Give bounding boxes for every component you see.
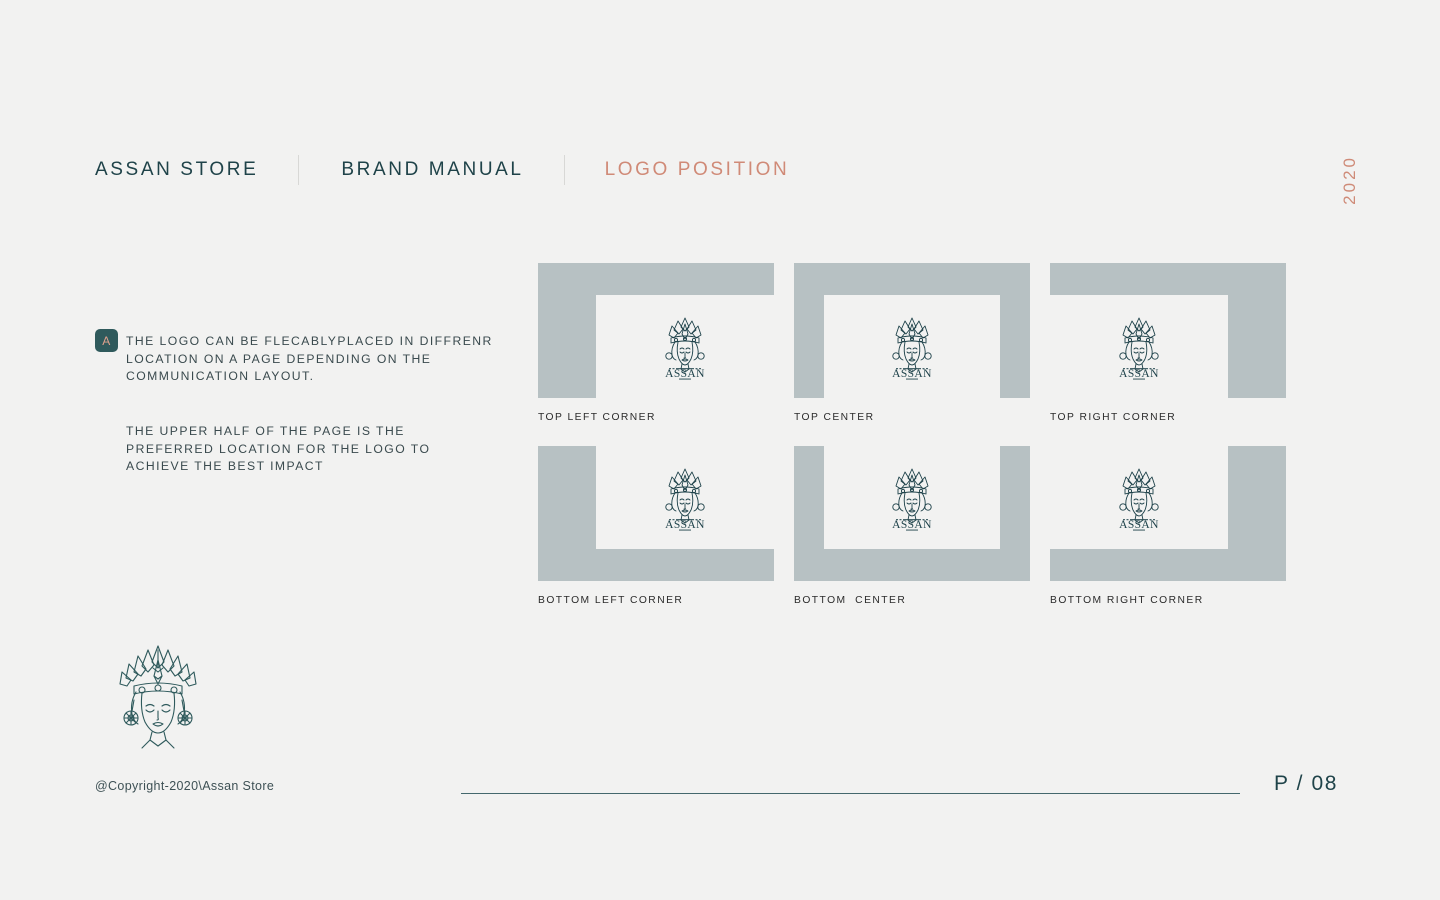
cell-caption: TOP CENTER <box>794 412 1030 423</box>
page-header: ASSAN STORE BRAND MANUAL LOGO POSITION <box>95 152 789 188</box>
copyright-text: @Copyright-2020\Assan Store <box>95 779 274 793</box>
page-inner-area: ASSAN <box>1050 446 1228 549</box>
page-frame: ASSAN <box>794 263 1030 398</box>
footer-divider-line <box>461 793 1240 794</box>
cell-caption: BOTTOM LEFT CORNER <box>538 595 774 606</box>
header-divider-1 <box>298 155 299 185</box>
page-inner-area: ASSAN <box>824 446 1000 549</box>
assan-logo: ASSAN <box>1111 465 1167 531</box>
svg-text:ASSAN: ASSAN <box>892 368 932 380</box>
note-paragraph-2: THE UPPER HALF OF THE PAGE IS THE PREFER… <box>126 423 496 476</box>
page-frame: ASSAN <box>794 446 1030 581</box>
page-inner-area: ASSAN <box>596 446 774 549</box>
page-inner-area: ASSAN <box>1050 295 1228 398</box>
cell-caption: BOTTOM CENTER <box>794 595 1030 606</box>
cell-caption: TOP LEFT CORNER <box>538 412 774 423</box>
grid-cell: ASSAN BOTTOM CENTER <box>794 446 1030 606</box>
grid-cell: ASSAN TOP RIGHT CORNER <box>1050 263 1286 423</box>
grid-cell: ASSAN TOP LEFT CORNER <box>538 263 774 423</box>
page-inner-area: ASSAN <box>596 295 774 398</box>
header-document-title: BRAND MANUAL <box>341 159 523 181</box>
brand-mark-illustration <box>112 638 204 750</box>
note-paragraph-1: THE LOGO CAN BE FLECABLYPLACED IN DIFFRE… <box>126 333 496 386</box>
header-divider-2 <box>564 155 565 185</box>
assan-logo: ASSAN <box>657 465 713 531</box>
note-badge: A <box>95 329 118 352</box>
svg-text:ASSAN: ASSAN <box>665 368 705 380</box>
svg-text:ASSAN: ASSAN <box>1119 368 1159 380</box>
grid-cell: ASSAN BOTTOM RIGHT CORNER <box>1050 446 1286 606</box>
assan-logo: ASSAN <box>884 314 940 380</box>
page-frame: ASSAN <box>538 263 774 398</box>
svg-text:ASSAN: ASSAN <box>665 519 705 531</box>
page-inner-area: ASSAN <box>824 295 1000 398</box>
assan-logo: ASSAN <box>884 465 940 531</box>
header-brand: ASSAN STORE <box>95 159 258 181</box>
assan-logo: ASSAN <box>657 314 713 380</box>
header-section-title: LOGO POSITION <box>605 159 790 181</box>
page-number: P / 08 <box>1274 772 1338 796</box>
year-label: 2020 <box>1340 155 1360 205</box>
grid-cell: ASSAN BOTTOM LEFT CORNER <box>538 446 774 606</box>
page-frame: ASSAN <box>1050 263 1286 398</box>
assan-logo: ASSAN <box>1111 314 1167 380</box>
grid-cell: ASSAN TOP CENTER <box>794 263 1030 423</box>
cell-caption: BOTTOM RIGHT CORNER <box>1050 595 1286 606</box>
cell-caption: TOP RIGHT CORNER <box>1050 412 1286 423</box>
svg-text:ASSAN: ASSAN <box>892 519 932 531</box>
page-frame: ASSAN <box>538 446 774 581</box>
svg-text:ASSAN: ASSAN <box>1119 519 1159 531</box>
page-frame: ASSAN <box>1050 446 1286 581</box>
